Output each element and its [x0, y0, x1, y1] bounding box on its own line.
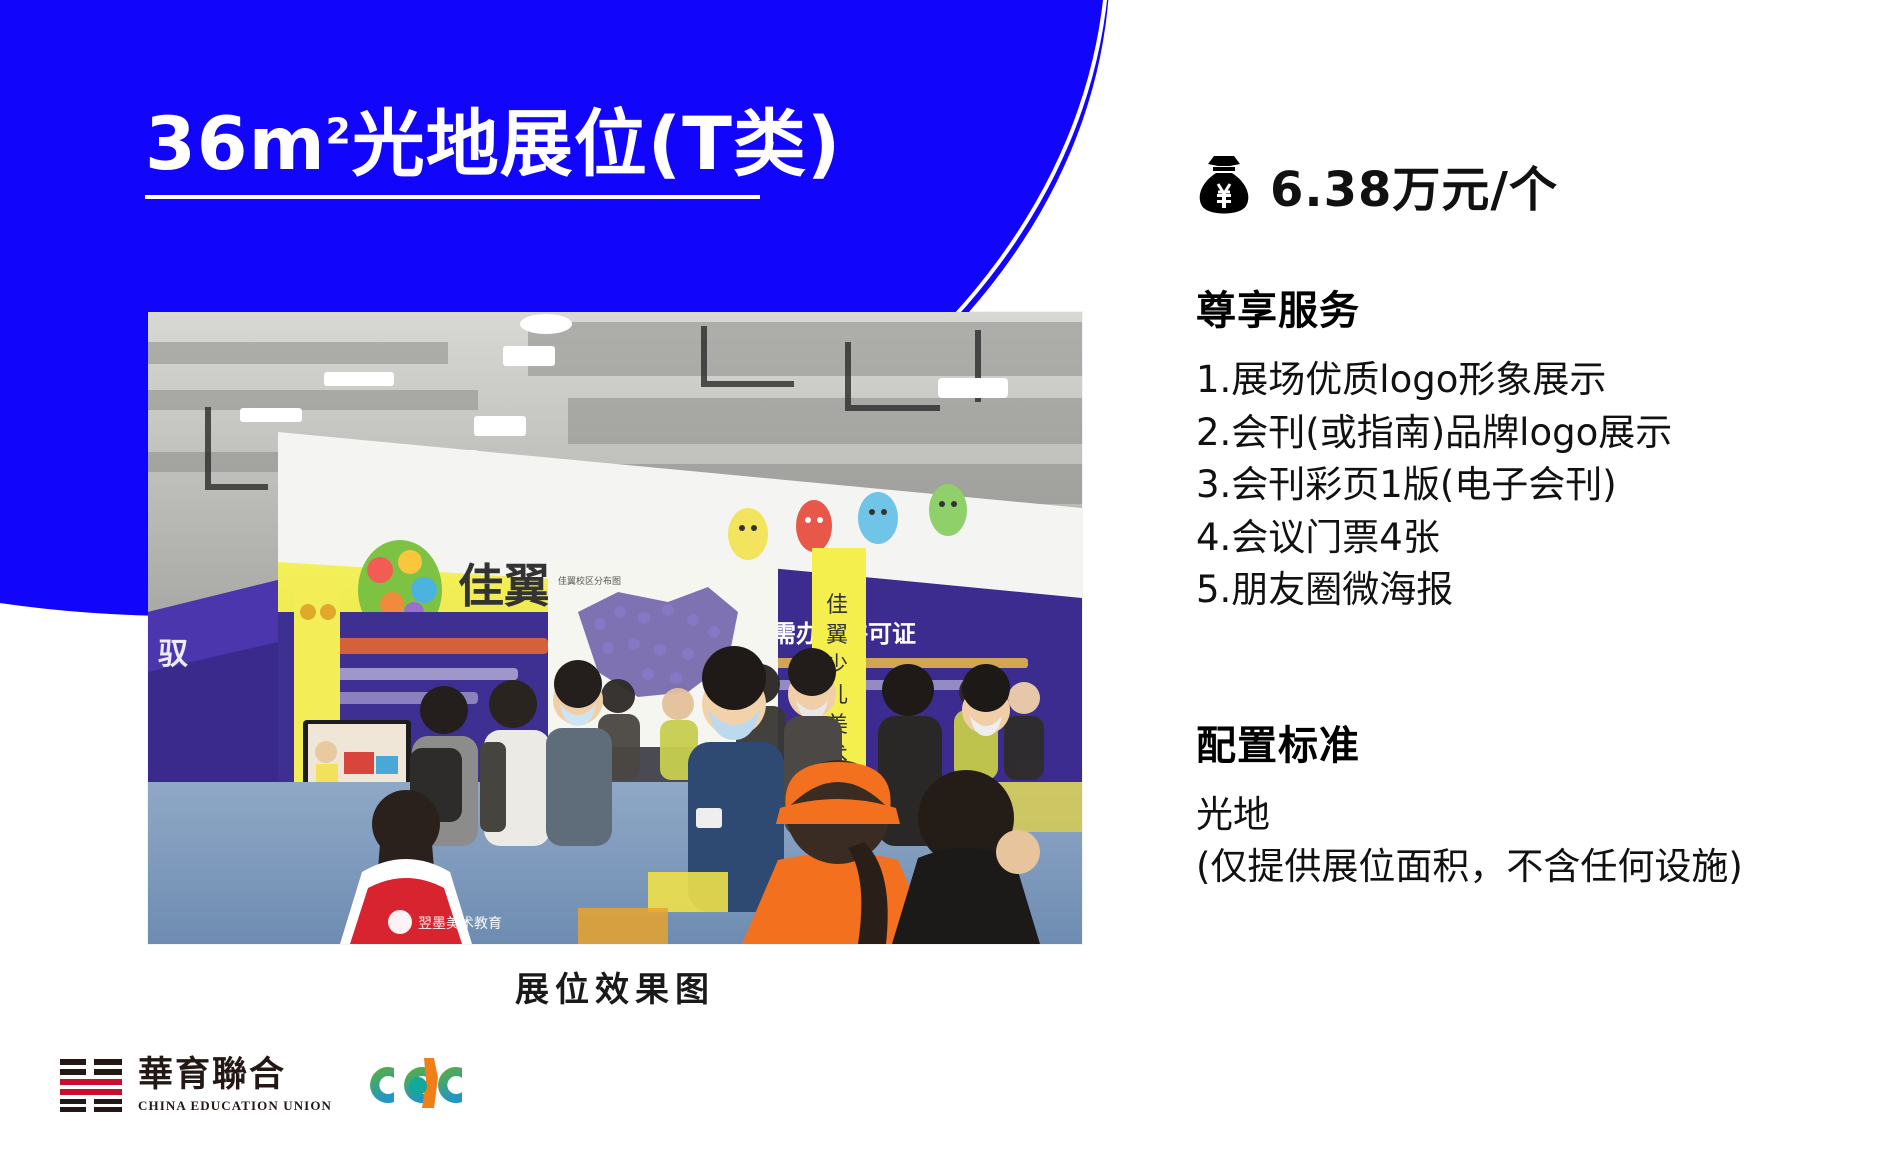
brand-name-cn: 華育聯合 [138, 1058, 332, 1093]
trigram-icon [60, 1057, 122, 1113]
svg-text:佳翼校区分布图: 佳翼校区分布图 [558, 575, 621, 586]
money-bag-icon [1196, 152, 1252, 218]
price-value: 6.38万元/个 [1270, 150, 1558, 220]
config-line: (仅提供展位面积，不含任何设施) [1196, 841, 1856, 894]
slide-canvas: 36m2光地展位(T类) [0, 0, 1899, 1169]
config-line: 光地 [1196, 789, 1856, 842]
booth-photo: 佳翼教育 JIAYI EDUCATION 驭 无需办学许 [148, 312, 1082, 944]
title-unit: m [249, 102, 326, 187]
china-education-union-logo: 華育聯合 CHINA EDUCATION UNION [60, 1057, 332, 1113]
title-rest: 光地展位(T类) [352, 102, 842, 187]
title-area-number: 36 [145, 102, 249, 187]
list-item: 5.朋友圈微海报 [1196, 564, 1856, 617]
price-row: 6.38万元/个 [1196, 150, 1856, 220]
title-superscript: 2 [326, 112, 352, 153]
list-item: 4.会议门票4张 [1196, 512, 1856, 565]
cec-logo [366, 1056, 466, 1114]
svg-text:驭: 驭 [158, 637, 188, 672]
config-heading: 配置标准 [1196, 713, 1856, 771]
svg-text:翼: 翼 [826, 623, 848, 648]
title-underline [145, 195, 760, 199]
list-item: 1.展场优质logo形象展示 [1196, 354, 1856, 407]
photo-caption: 展位效果图 [148, 962, 1082, 1011]
config-block: 配置标准 光地 (仅提供展位面积，不含任何设施) [1196, 713, 1856, 894]
page-title-text: 36m2光地展位(T类) [145, 108, 841, 181]
ceu-text-block: 華育聯合 CHINA EDUCATION UNION [138, 1058, 332, 1112]
details-panel: 6.38万元/个 尊享服务 1.展场优质logo形象展示 2.会刊(或指南)品牌… [1196, 150, 1856, 894]
brand-name-en: CHINA EDUCATION UNION [138, 1099, 332, 1112]
list-item: 2.会刊(或指南)品牌logo展示 [1196, 407, 1856, 460]
booth-photo-illustration: 佳翼教育 JIAYI EDUCATION 驭 无需办学许 [148, 312, 1082, 944]
services-list: 1.展场优质logo形象展示 2.会刊(或指南)品牌logo展示 3.会刊彩页1… [1196, 354, 1856, 617]
list-item: 3.会刊彩页1版(电子会刊) [1196, 459, 1856, 512]
svg-text:翌墨美术教育: 翌墨美术教育 [418, 916, 502, 932]
footer-logos: 華育聯合 CHINA EDUCATION UNION [60, 1056, 466, 1114]
svg-text:佳: 佳 [826, 593, 848, 618]
services-heading: 尊享服务 [1196, 278, 1856, 336]
page-title: 36m2光地展位(T类) [145, 108, 841, 199]
